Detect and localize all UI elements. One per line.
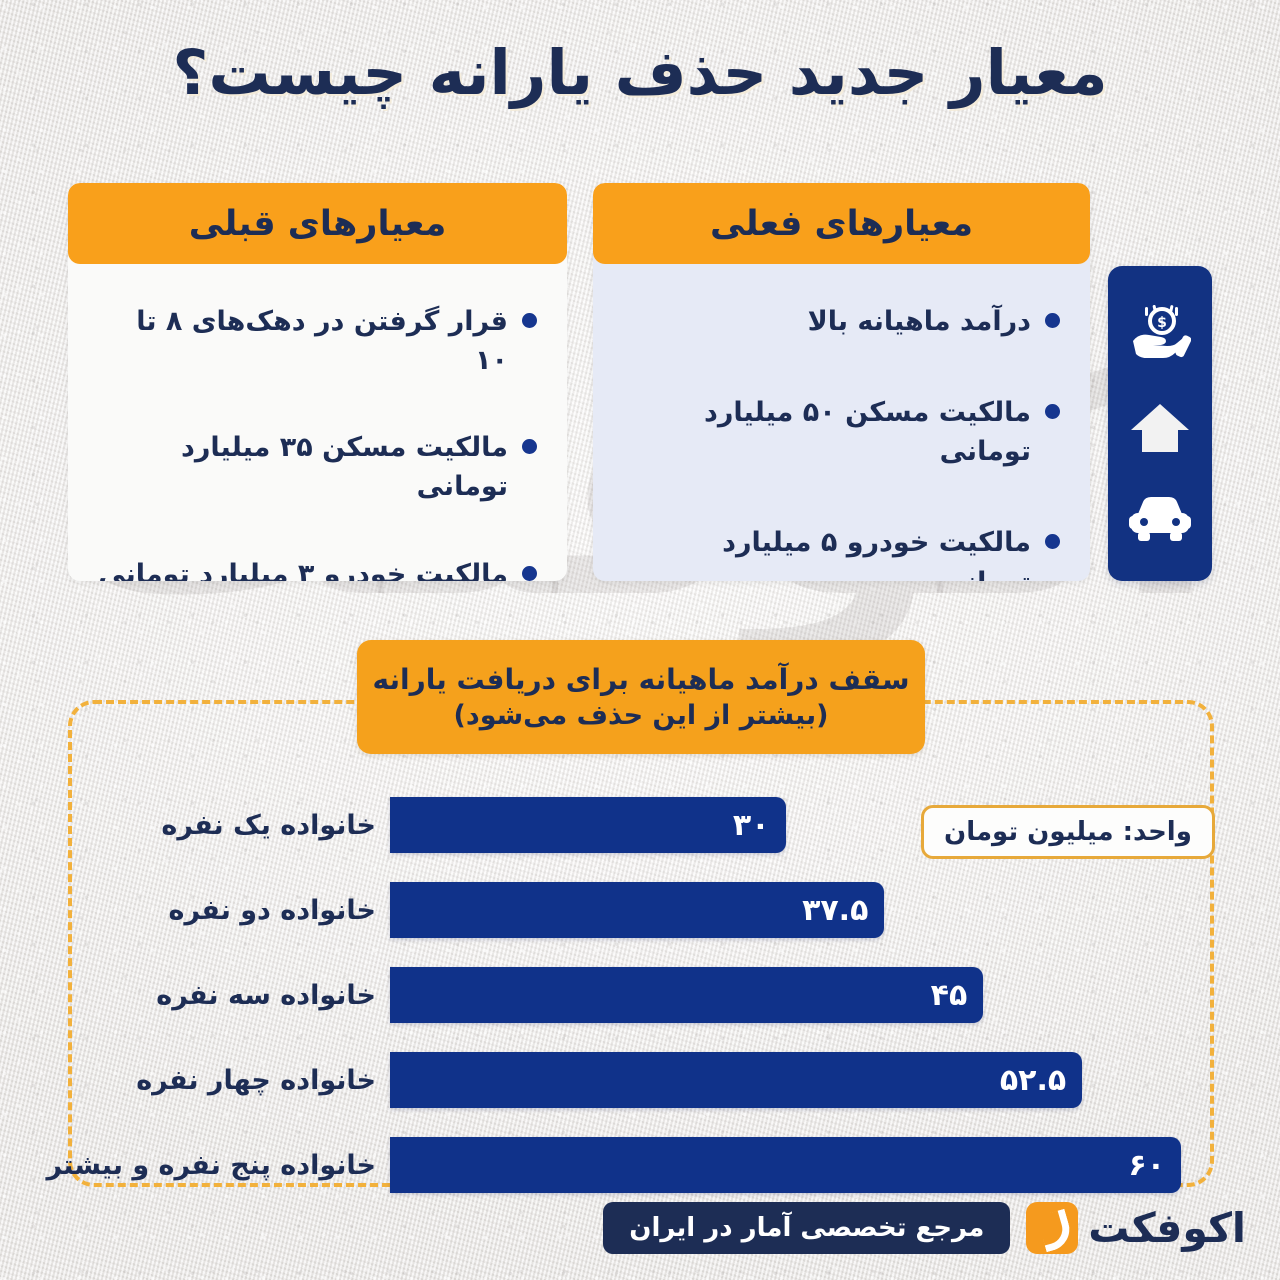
bar-category-label: خانواده سه نفره (68, 980, 390, 1011)
chart-banner-subtitle: (بیشتر از این حذف می‌شود) (454, 700, 829, 731)
bullet-dot-icon (522, 313, 537, 328)
bar-fill: ۳۰ (390, 797, 786, 853)
bar-fill: ۴۵ (390, 967, 983, 1023)
list-item: مالکیت مسکن ۳۵ میلیارد تومانی (98, 428, 537, 506)
footer-tagline: مرجع تخصصی آمار در ایران (603, 1202, 1010, 1254)
list-item-label: درآمد ماهیانه بالا (808, 302, 1031, 341)
bar-row: خانواده سه نفره ۴۵ (68, 967, 1214, 1023)
bar-row: خانواده یک نفره ۳۰ (68, 797, 1214, 853)
card-previous-criteria: معیارهای قبلی قرار گرفتن در دهک‌های ۸ تا… (68, 183, 567, 581)
bar-row: خانواده دو نفره ۳۷.۵ (68, 882, 1214, 938)
car-icon (1129, 496, 1191, 542)
house-icon (1130, 402, 1190, 454)
card-previous-list: قرار گرفتن در دهک‌های ۸ تا ۱۰ مالکیت مسک… (68, 264, 567, 581)
bar-chart: خانواده یک نفره ۳۰ خانواده دو نفره ۳۷.۵ … (68, 797, 1214, 1222)
brand-logo: اکوفکت (1026, 1202, 1246, 1254)
bar-row: خانواده پنج نفره و بیشتر ۶۰ (68, 1137, 1214, 1193)
bar-value-label: ۵۲.۵ (1000, 1063, 1066, 1098)
bar-track: ۳۰ (390, 797, 1214, 853)
bullet-dot-icon (1045, 313, 1060, 328)
brand-mark-icon (1026, 1202, 1078, 1254)
list-item-label: قرار گرفتن در دهک‌های ۸ تا ۱۰ (98, 302, 508, 380)
bullet-dot-icon (522, 439, 537, 454)
card-current-header: معیارهای فعلی (593, 183, 1090, 264)
bar-fill: ۳۷.۵ (390, 882, 884, 938)
bar-category-label: خانواده دو نفره (68, 895, 390, 926)
icon-rail: $ (1108, 266, 1212, 581)
list-item-label: مالکیت مسکن ۵۰ میلیارد تومانی (623, 393, 1031, 471)
bar-row: خانواده چهار نفره ۵۲.۵ (68, 1052, 1214, 1108)
bar-category-label: خانواده پنج نفره و بیشتر (68, 1150, 390, 1181)
hand-holding-money-icon: $ (1129, 305, 1191, 361)
criteria-cards: معیارهای فعلی درآمد ماهیانه بالا مالکیت … (68, 183, 1090, 581)
bullet-dot-icon (1045, 404, 1060, 419)
list-item: قرار گرفتن در دهک‌های ۸ تا ۱۰ (98, 302, 537, 380)
bar-value-label: ۶۰ (1128, 1148, 1165, 1183)
card-current-criteria: معیارهای فعلی درآمد ماهیانه بالا مالکیت … (593, 183, 1090, 581)
bar-value-label: ۳۰ (733, 808, 770, 843)
bar-track: ۶۰ (390, 1137, 1214, 1193)
card-previous-header: معیارهای قبلی (68, 183, 567, 264)
list-item: مالکیت خودرو ۳ میلیارد تومانی (98, 555, 537, 581)
bar-value-label: ۴۵ (931, 978, 968, 1013)
bar-fill: ۶۰ (390, 1137, 1181, 1193)
bar-category-label: خانواده چهار نفره (68, 1065, 390, 1096)
bar-value-label: ۳۷.۵ (802, 893, 868, 928)
page-title: معیار جدید حذف یارانه چیست؟ (0, 34, 1280, 112)
bullet-dot-icon (1045, 534, 1060, 549)
footer: اکوفکت مرجع تخصصی آمار در ایران (0, 1192, 1280, 1264)
brand-name: اکوفکت (1088, 1204, 1246, 1252)
svg-text:$: $ (1157, 315, 1167, 331)
list-item: درآمد ماهیانه بالا (623, 302, 1060, 341)
bar-track: ۵۲.۵ (390, 1052, 1214, 1108)
list-item-label: مالکیت خودرو ۳ میلیارد تومانی (98, 555, 508, 581)
bar-track: ۳۷.۵ (390, 882, 1214, 938)
chart-banner: سقف درآمد ماهیانه برای دریافت یارانه (بی… (357, 640, 925, 754)
list-item-label: مالکیت خودرو ۵ میلیارد تومانی (623, 523, 1031, 581)
card-current-list: درآمد ماهیانه بالا مالکیت مسکن ۵۰ میلیار… (593, 264, 1090, 581)
list-item: مالکیت مسکن ۵۰ میلیارد تومانی (623, 393, 1060, 471)
bar-fill: ۵۲.۵ (390, 1052, 1082, 1108)
bar-category-label: خانواده یک نفره (68, 810, 390, 841)
infographic-page: معیار جدید حذف یارانه چیست؟ معیارهای فعل… (0, 0, 1280, 1280)
bar-track: ۴۵ (390, 967, 1214, 1023)
list-item-label: مالکیت مسکن ۳۵ میلیارد تومانی (98, 428, 508, 506)
bullet-dot-icon (522, 566, 537, 581)
chart-banner-title: سقف درآمد ماهیانه برای دریافت یارانه (373, 663, 910, 696)
list-item: مالکیت خودرو ۵ میلیارد تومانی (623, 523, 1060, 581)
